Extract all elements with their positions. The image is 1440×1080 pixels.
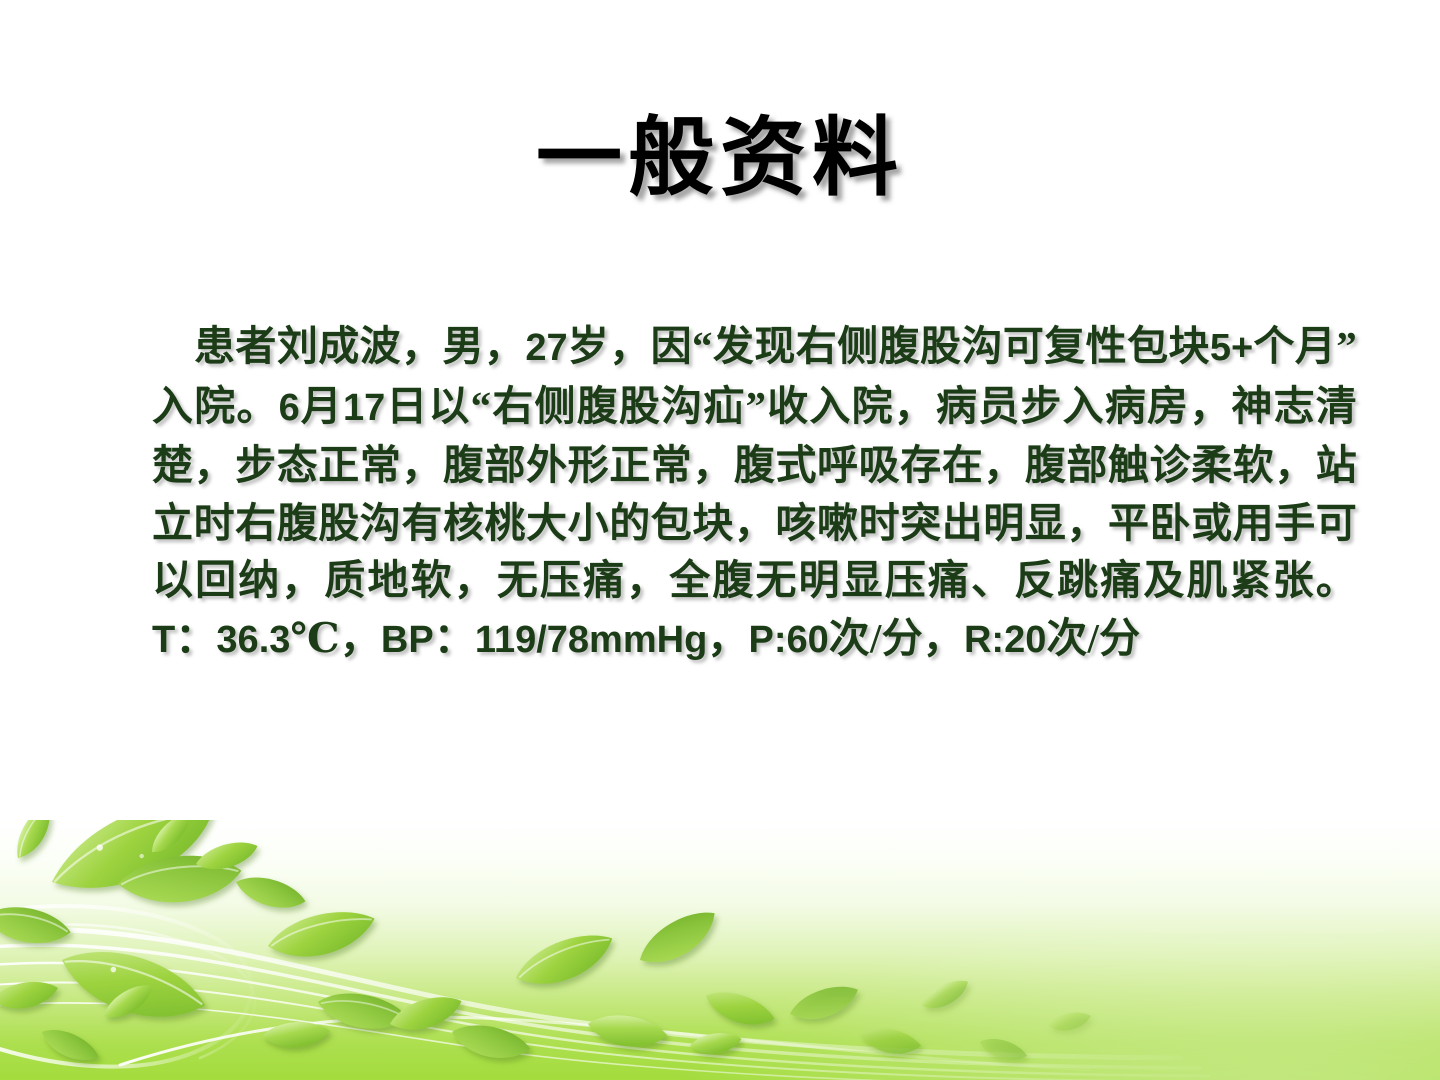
body-segment-latin: R:20 — [964, 619, 1046, 661]
body-text-block: 患者刘成波，男，27岁，因“发现右侧腹股沟可复性包块5+个月”入院。6月17日以… — [152, 318, 1357, 669]
body-segment-cjk: ， — [707, 615, 748, 661]
body-segment-latin: BP — [381, 619, 434, 661]
case-description-paragraph: 患者刘成波，男，27岁，因“发现右侧腹股沟可复性包块5+个月”入院。6月17日以… — [152, 318, 1357, 669]
body-segment-latin: P:60 — [749, 619, 829, 661]
body-segment-latin: 36.3 — [216, 619, 290, 661]
body-segment-cjk: ： — [434, 615, 475, 661]
body-segment-latin: 17 — [343, 387, 385, 429]
body-segment-latin: 6 — [279, 387, 300, 429]
body-segment-latin: 5+ — [1210, 327, 1253, 369]
body-segment-cjk: ℃， — [290, 615, 381, 661]
body-segment-cjk: 次/分， — [829, 615, 964, 661]
body-segment-cjk: 次/分 — [1046, 615, 1140, 661]
body-segment-cjk: 月 — [300, 383, 343, 429]
body-segment-latin: 119/78mmHg — [475, 619, 707, 661]
decorative-footer-band — [0, 820, 1440, 1080]
body-segment-cjk: 患者刘成波，男， — [194, 323, 525, 369]
body-segment-cjk: ： — [175, 615, 216, 661]
body-segment-latin: 27 — [525, 327, 567, 369]
body-segment-cjk: 岁，因“发现右侧腹股沟可复性包块 — [568, 323, 1210, 369]
green-haze-overlay — [0, 820, 1440, 1080]
body-segment-latin: T — [152, 619, 175, 661]
leaf-decoration-icon — [0, 820, 1440, 1080]
slide: 一般资料 患者刘成波，男，27岁，因“发现右侧腹股沟可复性包块5+个月”入院。6… — [0, 0, 1440, 1080]
green-gradient — [0, 820, 1440, 1080]
page-title: 一般资料 — [0, 112, 1440, 203]
